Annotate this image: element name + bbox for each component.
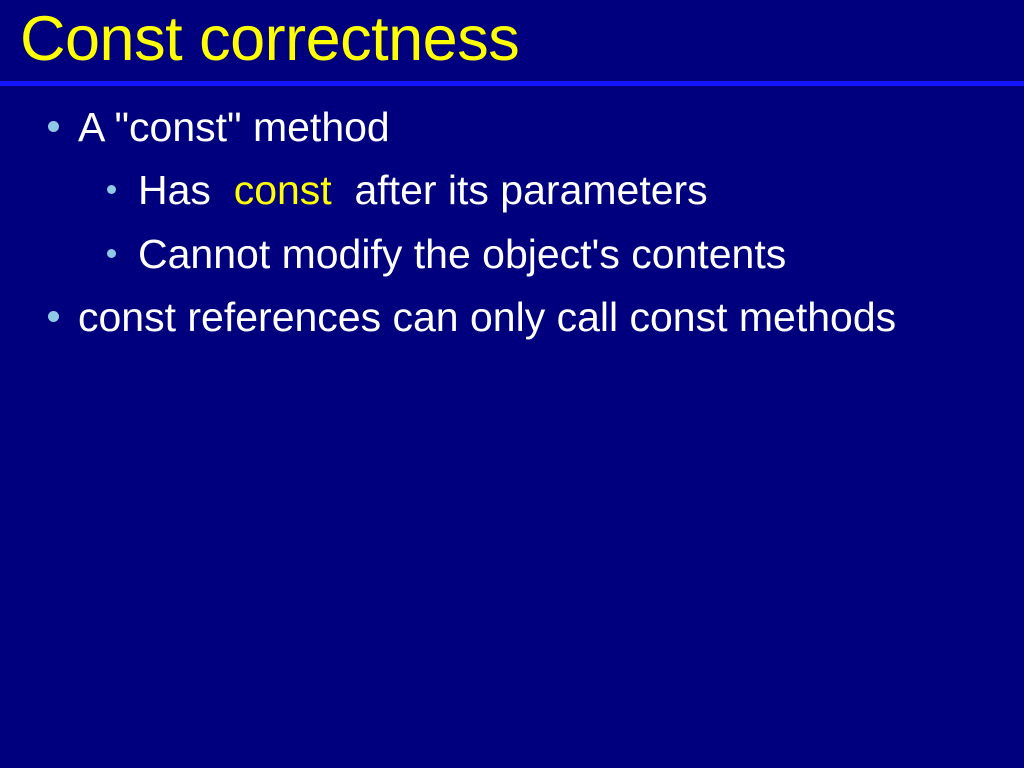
bullet-dot-icon (48, 311, 59, 322)
bullet-dot-icon (107, 249, 116, 258)
bullet-item: A "const" method (0, 96, 1024, 158)
bullet-text-run: Cannot modify the object's contents (138, 231, 786, 277)
bullet-dot-icon (107, 185, 116, 194)
bullet-text-run: const references can only call const met… (78, 294, 896, 340)
bullet-text: A "const" method (78, 104, 390, 150)
bullet-text-run: A "const" method (78, 104, 390, 150)
bullet-item: Has const after its parameters (0, 158, 1024, 222)
bullet-text-run: after its parameters (332, 167, 708, 213)
bullet-text-run: Has (138, 167, 234, 213)
slide: Const correctness A "const" methodHas co… (0, 0, 1024, 768)
bullet-text: Has const after its parameters (138, 167, 708, 213)
title-divider (0, 81, 1024, 86)
bullet-item: const references can only call const met… (0, 286, 1024, 348)
page-title: Const correctness (20, 4, 519, 74)
bullet-text: Cannot modify the object's contents (138, 231, 786, 277)
keyword-const: const (234, 167, 332, 213)
bullet-list: A "const" methodHas const after its para… (0, 96, 1024, 348)
bullet-text: const references can only call const met… (78, 294, 896, 340)
bullet-dot-icon (48, 121, 59, 132)
bullet-item: Cannot modify the object's contents (0, 222, 1024, 286)
